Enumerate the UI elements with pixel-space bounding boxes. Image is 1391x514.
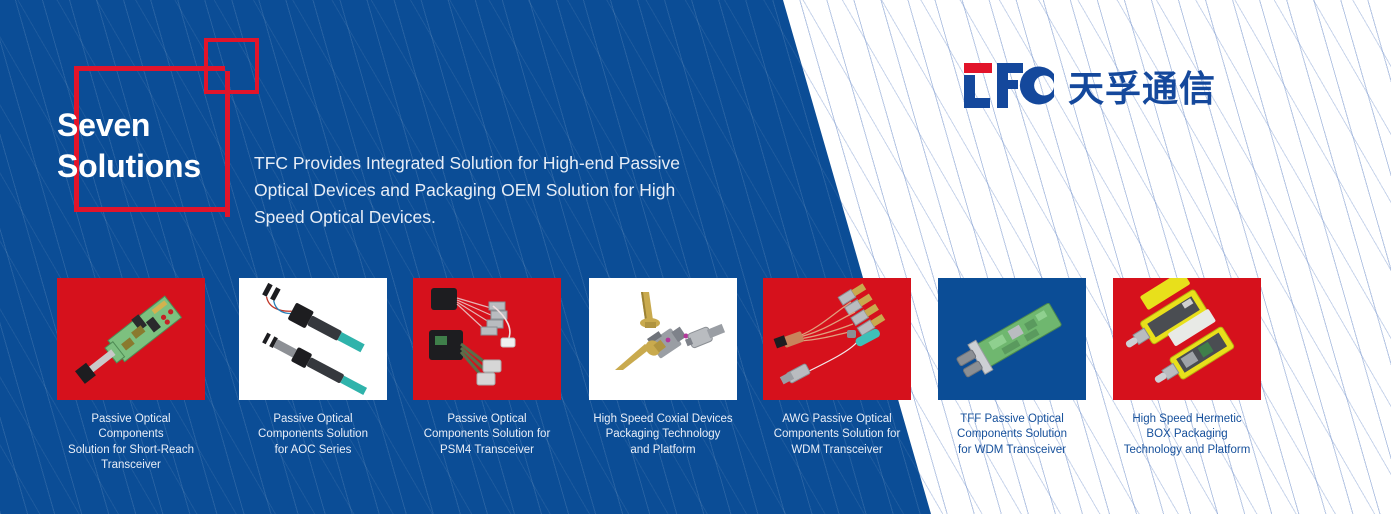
- caption-line: Solution for Short-Reach: [59, 443, 203, 458]
- caption-line: and Platform: [591, 443, 735, 458]
- caption-line: High Speed Coxial Devices: [591, 412, 735, 427]
- solutions-card-row: Passive Optical Components Solution for …: [0, 0, 1391, 514]
- caption-line: Components Solution: [940, 427, 1084, 442]
- solution-card-1[interactable]: Passive Optical Components Solution for …: [57, 278, 205, 473]
- solution-card-4-caption: High Speed Coxial Devices Packaging Tech…: [589, 412, 737, 458]
- solution-card-3[interactable]: Passive Optical Components Solution for …: [413, 278, 561, 458]
- caption-line: Passive Optical: [415, 412, 559, 427]
- caption-line: PSM4 Transceiver: [415, 443, 559, 458]
- caption-line: Transceiver: [59, 458, 203, 473]
- product-image-psm4-fanout-harness: [413, 278, 561, 400]
- solution-card-1-caption: Passive Optical Components Solution for …: [57, 412, 205, 473]
- solution-card-7-thumbnail: [1113, 278, 1261, 400]
- caption-line: Passive Optical Components: [59, 412, 203, 443]
- solution-card-5-caption: AWG Passive Optical Components Solution …: [763, 412, 911, 458]
- caption-line: Technology and Platform: [1115, 443, 1259, 458]
- product-image-yellow-hermetic-box-pair: [1113, 278, 1261, 400]
- caption-line: WDM Transceiver: [765, 443, 909, 458]
- solution-card-4-thumbnail: [589, 278, 737, 400]
- solution-card-3-thumbnail: [413, 278, 561, 400]
- product-image-green-pcb-flex-cable-assembly: [57, 278, 205, 400]
- caption-line: Components Solution for: [415, 427, 559, 442]
- caption-line: High Speed Hermetic: [1115, 412, 1259, 427]
- solution-card-2[interactable]: Passive Optical Components Solution for …: [239, 278, 387, 458]
- solution-card-7-caption: High Speed Hermetic BOX Packaging Techno…: [1113, 412, 1261, 458]
- product-image-awg-fanout-array: [763, 278, 911, 400]
- caption-line: Components Solution for: [765, 427, 909, 442]
- solution-card-7[interactable]: High Speed Hermetic BOX Packaging Techno…: [1113, 278, 1261, 458]
- product-image-coaxial-to-can-devices: [589, 278, 737, 400]
- caption-line: for WDM Transceiver: [940, 443, 1084, 458]
- solution-card-1-thumbnail: [57, 278, 205, 400]
- solution-card-4[interactable]: High Speed Coxial Devices Packaging Tech…: [589, 278, 737, 458]
- solution-card-2-caption: Passive Optical Components Solution for …: [239, 412, 387, 458]
- caption-line: TFF Passive Optical: [940, 412, 1084, 427]
- solution-card-6-thumbnail: [938, 278, 1086, 400]
- solution-card-3-caption: Passive Optical Components Solution for …: [413, 412, 561, 458]
- solution-card-5-thumbnail: [763, 278, 911, 400]
- caption-line: for AOC Series: [241, 443, 385, 458]
- solution-card-2-thumbnail: [239, 278, 387, 400]
- product-image-tff-green-board: [938, 278, 1086, 400]
- solution-card-6-caption: TFF Passive Optical Components Solution …: [938, 412, 1086, 458]
- caption-line: AWG Passive Optical: [765, 412, 909, 427]
- solution-card-5[interactable]: AWG Passive Optical Components Solution …: [763, 278, 911, 458]
- solution-card-6[interactable]: TFF Passive Optical Components Solution …: [938, 278, 1086, 458]
- caption-line: Components Solution: [241, 427, 385, 442]
- caption-line: Packaging Technology: [591, 427, 735, 442]
- caption-line: BOX Packaging: [1115, 427, 1259, 442]
- banner-stage: Seven Solutions TFC Provides Integrated …: [0, 0, 1391, 514]
- product-image-aoc-connector-pair: [239, 278, 387, 400]
- caption-line: Passive Optical: [241, 412, 385, 427]
